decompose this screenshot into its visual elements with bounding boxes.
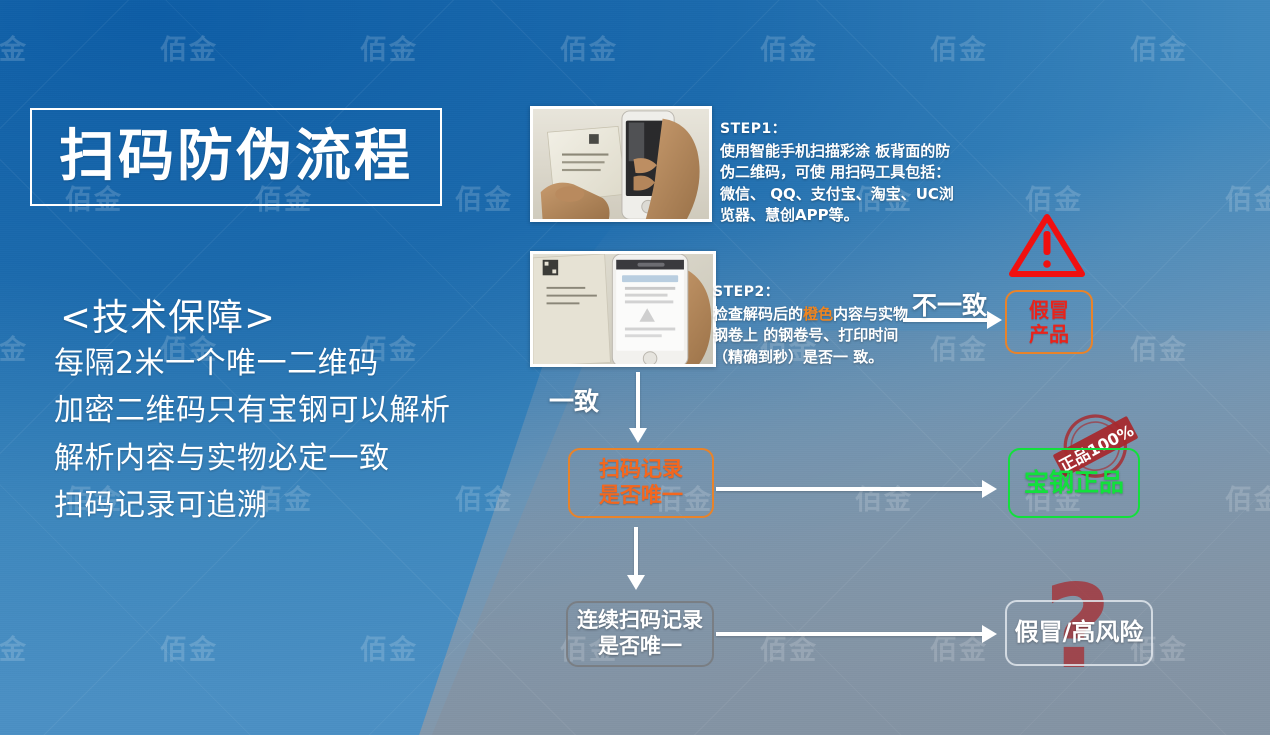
step2-label: STEP2： (713, 281, 918, 301)
watermark-text: 佰金 (760, 28, 818, 67)
fake-product-line2: 产品 (1029, 322, 1069, 346)
risk-label: 假冒/高风险 (1015, 618, 1144, 647)
step2-text: STEP2： 检查解码后的橙色内容与实物钢卷上 的钢卷号、打印时间 （精确到秒）… (713, 281, 918, 368)
scan-record-line1: 扫码记录 (599, 457, 683, 483)
watermark-text: 佰金 (1130, 328, 1188, 367)
step2-body-pre: 检查解码后的 (713, 305, 803, 323)
step2-photo (530, 251, 716, 367)
list-item: 解析内容与实物必定一致 (54, 441, 494, 476)
arrow-head (982, 480, 997, 498)
arrow-line (634, 527, 638, 577)
scan-record-line2: 是否唯一 (599, 483, 683, 509)
arrow-label-match: 一致 (549, 382, 599, 418)
watermark-text: 佰金 (0, 328, 28, 367)
continuous-record-line1: 连续扫码记录 (577, 608, 703, 634)
slide-canvas: 佰金佰金佰金佰金佰金佰金佰金佰金佰金佰金佰金佰金佰金佰金佰金佰金佰金佰金佰金佰金… (0, 0, 1270, 735)
benefits-list: 每隔2米一个唯一二维码 加密二维码只有宝钢可以解析 解析内容与实物必定一致 扫码… (54, 346, 494, 524)
list-item: 加密二维码只有宝钢可以解析 (54, 393, 494, 428)
step1-photo (530, 106, 712, 222)
subtitle: <技术保障> (60, 287, 276, 341)
arrow-label-mismatch: 不一致 (912, 286, 987, 322)
watermark-text: 佰金 (1225, 478, 1270, 517)
watermark-text: 佰金 (160, 628, 218, 667)
watermark-text: 佰金 (360, 28, 418, 67)
watermark-text: 佰金 (0, 28, 28, 67)
arrow-head (627, 575, 645, 590)
list-item: 扫码记录可追溯 (54, 488, 494, 523)
title-box: 扫码防伪流程 (30, 108, 442, 206)
watermark-text: 佰金 (930, 328, 988, 367)
continuous-record-line2: 是否唯一 (598, 634, 682, 660)
step2-photo-image (533, 254, 713, 366)
watermark-text: 佰金 (855, 478, 913, 517)
arrow-head (987, 311, 1002, 329)
step1-label: STEP1： (720, 118, 955, 138)
step1-text: STEP1： 使用智能手机扫描彩涂 板背面的防伪二维码，可使 用扫码工具包括：微… (720, 118, 955, 226)
arrow-line (636, 372, 640, 430)
flow-node-scan-record[interactable]: 扫码记录 是否唯一 (568, 448, 714, 518)
arrow-line (716, 487, 984, 491)
watermark-text: 佰金 (1225, 178, 1270, 217)
arrow-head (629, 428, 647, 443)
warning-triangle-icon (1008, 212, 1086, 278)
step2-body: 检查解码后的橙色内容与实物钢卷上 的钢卷号、打印时间 （精确到秒）是否一 致。 (713, 304, 918, 368)
flow-node-continuous-record[interactable]: 连续扫码记录 是否唯一 (566, 601, 714, 667)
genuine-label: 宝钢正品 (1024, 468, 1124, 499)
watermark-text: 佰金 (160, 28, 218, 67)
watermark-text: 佰金 (0, 628, 28, 667)
watermark-text: 佰金 (930, 28, 988, 67)
flow-node-genuine[interactable]: 宝钢正品 (1008, 448, 1140, 518)
watermark-text: 佰金 (455, 178, 513, 217)
step2-body-highlight: 橙色 (803, 305, 833, 323)
flow-node-fake-product[interactable]: 假冒 产品 (1005, 290, 1093, 354)
watermark-text: 佰金 (560, 28, 618, 67)
page-title: 扫码防伪流程 (59, 129, 413, 185)
watermark-text: 佰金 (1130, 28, 1188, 67)
flow-node-risk[interactable]: 假冒/高风险 (1005, 600, 1153, 666)
arrow-line (716, 632, 984, 636)
fake-product-line1: 假冒 (1029, 298, 1069, 322)
list-item: 每隔2米一个唯一二维码 (54, 346, 494, 381)
step1-body: 使用智能手机扫描彩涂 板背面的防伪二维码，可使 用扫码工具包括：微信、 QQ、支… (720, 141, 955, 226)
arrow-head (982, 625, 997, 643)
step1-photo-image (533, 109, 709, 221)
watermark-text: 佰金 (360, 628, 418, 667)
